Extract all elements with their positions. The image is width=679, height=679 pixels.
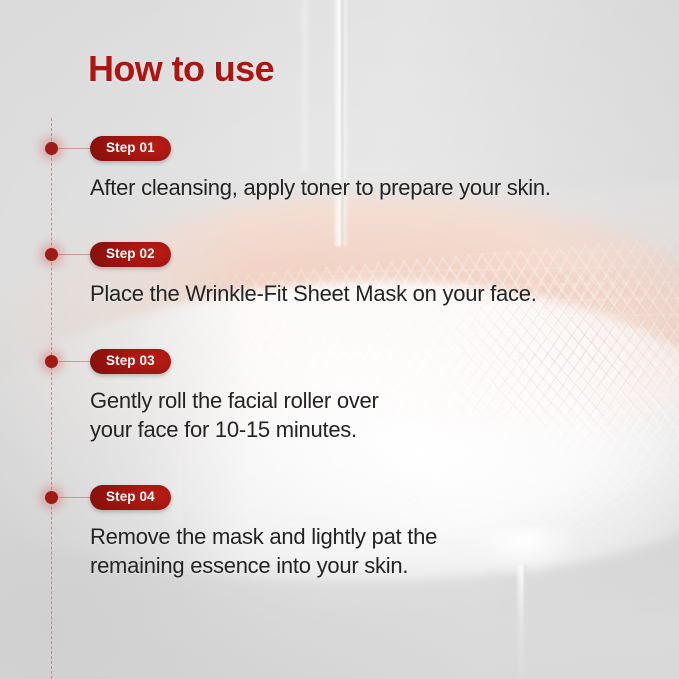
timeline-connector-2 [58,254,94,255]
step-badge-3: Step 03 [90,349,171,374]
timeline-track [51,118,53,679]
step-badge-1: Step 01 [90,136,171,161]
product-how-to-use-banner: How to use Step 01 After cleansing, appl… [0,0,679,679]
timeline-connector-4 [58,497,94,498]
step-badge-4: Step 04 [90,485,171,510]
timeline-node-4 [45,491,58,504]
timeline-node-2 [45,248,58,261]
step-description-4: Remove the mask and lightly pat the rema… [90,522,437,582]
step-description-3: Gently roll the facial roller over your … [90,386,379,446]
timeline-node-3 [45,355,58,368]
step-item-4: Step 04 Remove the mask and lightly pat … [90,485,437,581]
timeline-connector-3 [58,361,94,362]
page-title: How to use [88,48,274,90]
timeline-node-1 [45,142,58,155]
step-item-1: Step 01 After cleansing, apply toner to … [90,136,551,202]
timeline-connector-1 [58,148,94,149]
step-badge-2: Step 02 [90,242,171,267]
step-description-2: Place the Wrinkle-Fit Sheet Mask on your… [90,279,537,309]
step-item-2: Step 02 Place the Wrinkle-Fit Sheet Mask… [90,242,537,308]
step-item-3: Step 03 Gently roll the facial roller ov… [90,349,379,445]
step-description-1: After cleansing, apply toner to prepare … [90,173,551,203]
